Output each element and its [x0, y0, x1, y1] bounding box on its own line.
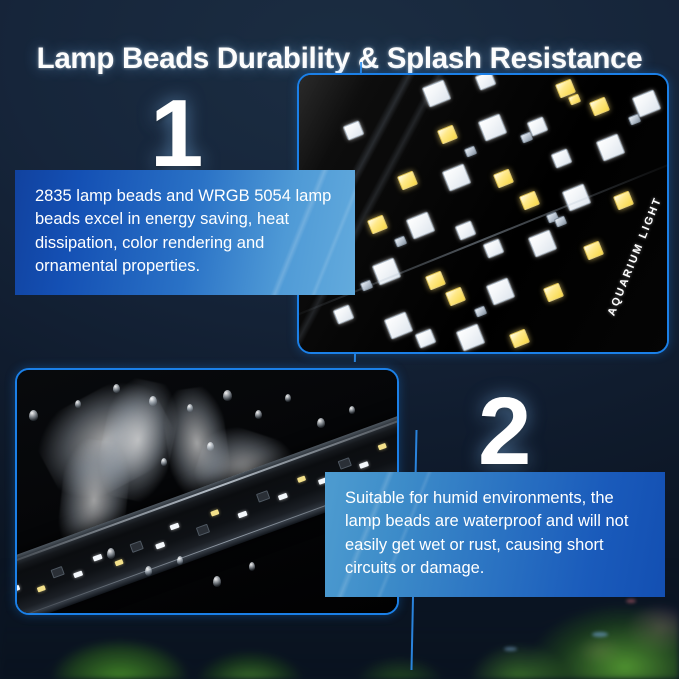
- aquarium-light-label: AQUARIUM LIGHT: [605, 195, 664, 318]
- feature-textbox-1: 2835 lamp beads and WRGB 5054 lamp beads…: [15, 170, 355, 295]
- page-title: Lamp Beads Durability & Splash Resistanc…: [0, 42, 679, 76]
- feature-textbox-2: Suitable for humid environments, the lam…: [325, 472, 665, 597]
- fish-blur-1: [592, 632, 608, 637]
- feature-text-2: Suitable for humid environments, the lam…: [345, 487, 647, 581]
- feature-number-2: 2: [478, 384, 531, 480]
- feature-text-1: 2835 lamp beads and WRGB 5054 lamp beads…: [35, 185, 337, 279]
- fish-blur-2: [504, 647, 517, 651]
- fish-blur-3: [626, 599, 636, 603]
- feature-number-1: 1: [150, 86, 203, 182]
- infographic-canvas: Lamp Beads Durability & Splash Resistanc…: [0, 0, 679, 679]
